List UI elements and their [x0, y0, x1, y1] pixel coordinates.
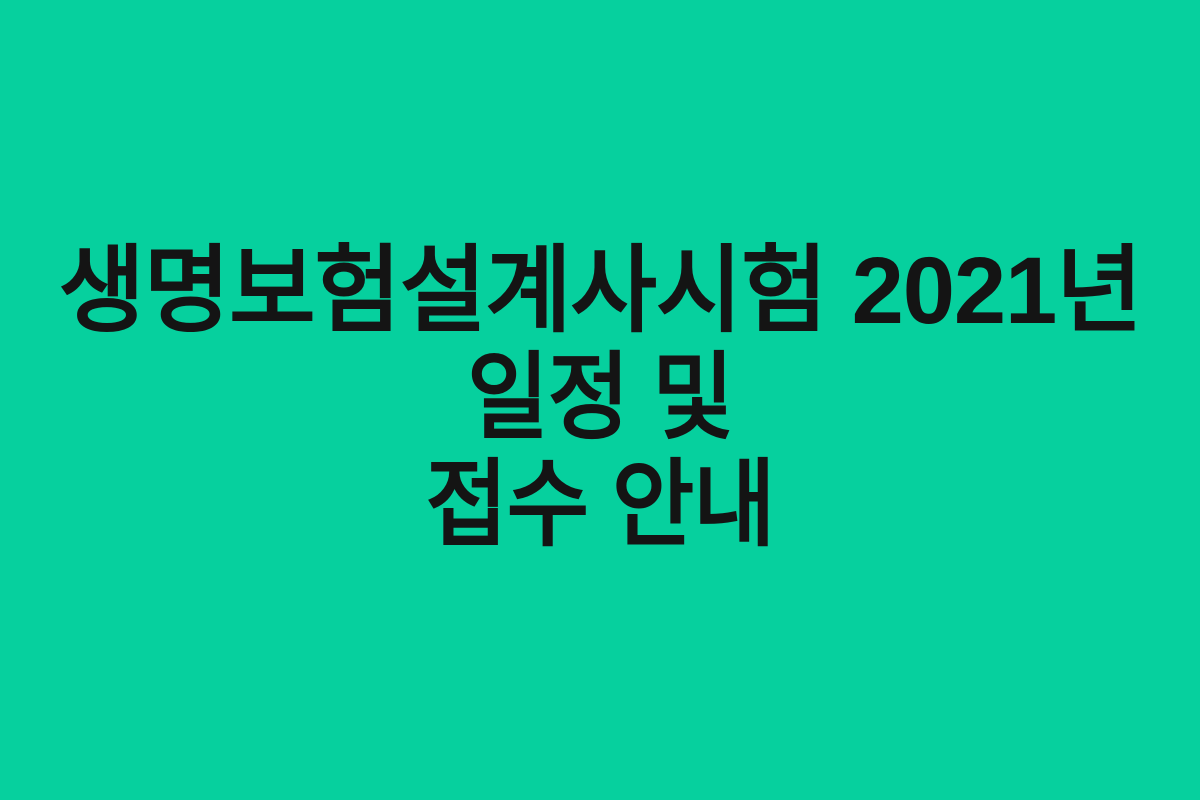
banner-title-block: 생명보험설계사시험 2021년 일정 및 접수 안내: [0, 238, 1200, 559]
promo-banner: 생명보험설계사시험 2021년 일정 및 접수 안내: [0, 0, 1200, 800]
banner-title-line-3: 접수 안내: [35, 452, 1166, 559]
banner-title-line-1: 생명보험설계사시험 2021년: [6, 238, 1193, 345]
banner-title-line-2: 일정 및: [38, 345, 1162, 452]
